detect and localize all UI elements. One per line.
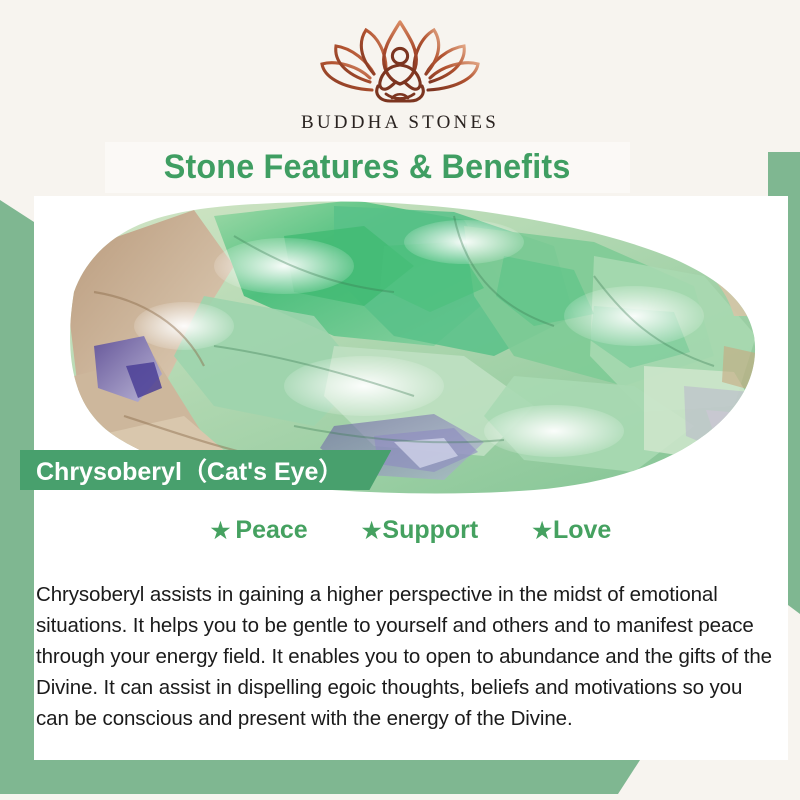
- keyword-peace: ★Peace: [211, 516, 308, 545]
- stone-name: Chrysoberyl（Cat's Eye）: [36, 452, 343, 488]
- star-icon: ★: [532, 520, 552, 542]
- stone-name-banner: Chrysoberyl（Cat's Eye）: [20, 450, 391, 490]
- stone-description: Chrysoberyl assists in gaining a higher …: [36, 579, 776, 734]
- keyword-support: ★Support: [362, 516, 479, 545]
- brand-logo: BUDDHA STONES: [0, 16, 800, 134]
- star-icon: ★: [211, 520, 231, 542]
- infographic-page: BUDDHA STONES Stone Features & Benefits: [0, 0, 800, 800]
- keyword-support-label: Support: [382, 516, 478, 545]
- lotus-meditation-icon: [310, 16, 490, 108]
- keyword-love: ★Love: [532, 516, 611, 545]
- star-icon: ★: [362, 520, 382, 542]
- keyword-love-label: Love: [553, 516, 611, 545]
- brand-name: BUDDHA STONES: [0, 112, 800, 134]
- header: BUDDHA STONES Stone Features & Benefits: [0, 0, 800, 200]
- page-title-box: Stone Features & Benefits: [105, 142, 630, 193]
- keyword-list: ★Peace ★Support ★Love: [34, 516, 788, 545]
- page-title: Stone Features & Benefits: [164, 148, 571, 187]
- keyword-peace-label: Peace: [235, 516, 307, 545]
- stone-photo: [34, 196, 788, 494]
- decorative-frame-bottom: [0, 760, 640, 794]
- stone-photo-image: [34, 196, 788, 494]
